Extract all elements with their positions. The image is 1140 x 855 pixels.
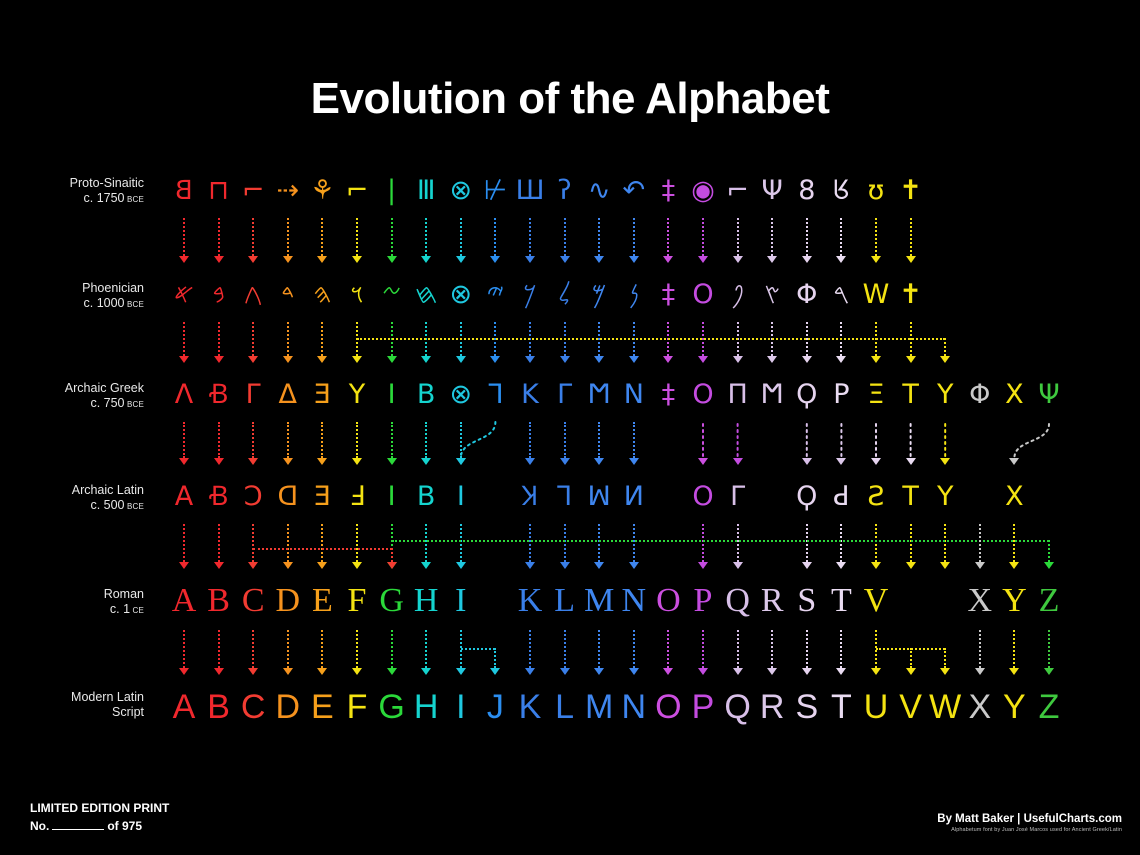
descent-line-col0: [183, 630, 185, 668]
descent-line-col5: [356, 218, 358, 256]
branch-J-drop: [494, 648, 496, 668]
descent-arrow-col21: [906, 562, 916, 569]
curve-upsilon-to-V-head: [940, 458, 950, 465]
descent-line-col4: [321, 218, 323, 256]
curve-psi-to-X-head: [1009, 458, 1019, 465]
descent-line-col16: [737, 630, 739, 668]
infographic-page: Evolution of the Alphabet Proto-Sinaitic…: [0, 0, 1140, 855]
descent-arrow-col12: [594, 356, 604, 363]
branch-Z-arrow: [1044, 562, 1054, 569]
descent-arrow-col7: [421, 562, 431, 569]
descent-line-col3: [287, 524, 289, 562]
descent-arrow-col11: [560, 356, 570, 363]
glyph-archaic-latin-X: X: [992, 474, 1036, 520]
descent-arrow-col11: [560, 562, 570, 569]
descent-arrow-col17: [767, 256, 777, 263]
descent-arrow-col6: [387, 356, 397, 363]
descent-arrow-col16: [733, 356, 743, 363]
descent-arrow-col24: [1009, 668, 1019, 675]
edition-number-prefix: No.: [30, 819, 49, 833]
descent-line-col14: [667, 218, 669, 256]
descent-arrow-col20: [871, 256, 881, 263]
descent-arrow-col4: [317, 256, 327, 263]
descent-arrow-col10: [525, 458, 535, 465]
descent-arrow-col11: [560, 668, 570, 675]
descent-arrow-col6: [387, 458, 397, 465]
descent-arrow-col5: [352, 256, 362, 263]
descent-arrow-col14: [663, 668, 673, 675]
descent-arrow-col23: [975, 668, 985, 675]
descent-arrow-col16: [733, 256, 743, 263]
descent-line-col4: [321, 322, 323, 356]
descent-line-col7: [425, 422, 427, 458]
curve-sigma-to-S-head: [871, 458, 881, 465]
glyph-row-archaic-greek: ΛꞖΓΔƎYIΒ⊗ᒣΚΓϺΝ‡ΟΠϺϘꓑΞΤΥΦΧΨ: [0, 372, 1140, 418]
descent-arrow-col4: [317, 562, 327, 569]
glyph-row-roman: ABCDEFGHIKLMNOPQRSTVXYZ: [0, 578, 1140, 624]
descent-arrow-col13: [629, 668, 639, 675]
descent-arrow-col4: [317, 458, 327, 465]
descent-arrow-col5: [352, 562, 362, 569]
descent-line-col12: [598, 630, 600, 668]
descent-line-col20: [875, 524, 877, 562]
descent-arrow-col20: [871, 562, 881, 569]
descent-line-col2: [252, 218, 254, 256]
descent-arrow-col20: [871, 356, 881, 363]
descent-line-col11: [564, 630, 566, 668]
descent-arrow-col22: [940, 562, 950, 569]
glyph-modern-latin-Z: Z: [1027, 684, 1071, 730]
descent-line-col11: [564, 218, 566, 256]
descent-line-col15: [702, 630, 704, 668]
glyph-row-phoenician: 𐤀𐤁𐤂𐤃𐤄𐤅𐤆𐤇⊗𐤉𐤊𐤋𐤌𐤍‡O𐤐𐤑Φ𐤓W✝: [0, 272, 1140, 318]
descent-arrow-col7: [421, 356, 431, 363]
descent-line-col1: [218, 322, 220, 356]
descent-line-col2: [252, 322, 254, 356]
descent-line-col1: [218, 524, 220, 562]
descent-arrow-col15: [698, 562, 708, 569]
descent-arrow-col9: [490, 256, 500, 263]
descent-line-col6: [391, 422, 393, 458]
branch-zeta-to-Z: [392, 540, 1049, 542]
curve-rho-to-R-head: [836, 458, 846, 465]
descent-arrow-col10: [525, 562, 535, 569]
descent-arrow-col7: [421, 458, 431, 465]
descent-arrow-col3: [283, 256, 293, 263]
curve-iota-to-I: [461, 422, 496, 458]
descent-arrow-col11: [560, 458, 570, 465]
descent-line-col16: [737, 524, 739, 562]
descent-arrow-col12: [594, 562, 604, 569]
descent-line-col4: [321, 524, 323, 562]
descent-arrow-col24: [1009, 562, 1019, 569]
descent-line-col19: [840, 218, 842, 256]
descent-arrow-col13: [629, 356, 639, 363]
descent-arrow-col15: [698, 356, 708, 363]
glyph-archaic-latin-N: И: [612, 474, 656, 520]
descent-arrow-col6: [387, 256, 397, 263]
descent-line-col7: [425, 218, 427, 256]
descent-line-col2: [252, 630, 254, 668]
branch-J-arrow: [490, 668, 500, 675]
descent-arrow-col1: [214, 562, 224, 569]
descent-arrow-col15: [698, 668, 708, 675]
descent-arrow-col21: [906, 356, 916, 363]
descent-line-col20: [875, 218, 877, 256]
descent-arrow-col2: [248, 668, 258, 675]
descent-arrow-col18: [802, 256, 812, 263]
descent-arrow-col8: [456, 562, 466, 569]
descent-line-col13: [633, 630, 635, 668]
descent-arrow-col21: [906, 256, 916, 263]
descent-line-col3: [287, 218, 289, 256]
descent-arrow-col14: [663, 356, 673, 363]
descent-arrow-col1: [214, 668, 224, 675]
descent-arrow-col11: [560, 256, 570, 263]
descent-arrow-col13: [629, 458, 639, 465]
descent-line-col12: [598, 422, 600, 458]
descent-arrow-col1: [214, 356, 224, 363]
descent-arrow-col18: [802, 562, 812, 569]
branch-C-to-G: [253, 548, 391, 550]
descent-arrow-col19: [836, 562, 846, 569]
descent-arrow-col8: [456, 668, 466, 675]
descent-arrow-col2: [248, 458, 258, 465]
glyph-archaic-latin-P: Γ: [716, 474, 760, 520]
descent-line-col21: [910, 218, 912, 256]
descent-line-col5: [356, 422, 358, 458]
descent-arrow-col19: [836, 668, 846, 675]
descent-line-col25: [1048, 630, 1050, 668]
descent-line-col1: [218, 630, 220, 668]
descent-arrow-col3: [283, 562, 293, 569]
descent-arrow-col2: [248, 256, 258, 263]
descent-arrow-col13: [629, 562, 639, 569]
glyph-archaic-greek-psi: Ψ: [1027, 372, 1071, 418]
descent-arrow-col10: [525, 356, 535, 363]
branch-waw-to-upsilon: [357, 338, 945, 340]
descent-line-col14: [667, 630, 669, 668]
descent-line-col0: [183, 218, 185, 256]
descent-arrow-col17: [767, 356, 777, 363]
branch-upsilon-drop: [944, 338, 946, 356]
descent-line-col13: [633, 524, 635, 562]
descent-line-col24: [1013, 630, 1015, 668]
descent-arrow-col7: [421, 668, 431, 675]
descent-arrow-col0: [179, 668, 189, 675]
descent-line-col1: [218, 218, 220, 256]
curve-psi-to-X: [1014, 424, 1049, 458]
branch-upsilon-arrow: [940, 356, 950, 363]
edition-number-blank: [52, 819, 104, 830]
descent-line-col13: [633, 218, 635, 256]
descent-arrow-col12: [594, 458, 604, 465]
descent-line-col3: [287, 630, 289, 668]
branch-G-drop: [391, 548, 393, 562]
descent-arrow-col3: [283, 458, 293, 465]
descent-arrow-col0: [179, 458, 189, 465]
descent-line-col18: [806, 630, 808, 668]
descent-arrow-col0: [179, 562, 189, 569]
descent-line-col6: [391, 218, 393, 256]
descent-arrow-col8: [456, 256, 466, 263]
descent-line-col18: [806, 524, 808, 562]
glyph-row-archaic-latin: AꞖƆᗡƎℲIΒIꞰꞀꟽИOΓϘꓒƧΤΥX: [0, 474, 1140, 520]
glyph-roman-Z: Z: [1027, 578, 1071, 624]
glyph-proto-sinaitic-mark: ✝: [889, 168, 933, 214]
curve-omicron-to-O-head: [698, 458, 708, 465]
descent-line-col12: [598, 218, 600, 256]
edition-number-suffix: of 975: [107, 819, 142, 833]
curve-iota-to-I-head: [456, 458, 466, 465]
descent-arrow-col10: [525, 668, 535, 675]
glyph-roman-V: V: [854, 578, 898, 624]
descent-arrow-col1: [214, 256, 224, 263]
descent-line-col6: [391, 630, 393, 668]
branch-G-arrow: [387, 562, 397, 569]
branch-Z-drop: [1048, 540, 1050, 562]
descent-line-col13: [633, 422, 635, 458]
descent-arrow-col18: [802, 356, 812, 363]
descent-line-col23: [979, 524, 981, 562]
branch-W-arrow: [940, 668, 950, 675]
descent-line-col7: [425, 630, 427, 668]
descent-arrow-col12: [594, 256, 604, 263]
descent-line-col4: [321, 422, 323, 458]
descent-arrow-col25: [1044, 668, 1054, 675]
descent-line-col0: [183, 524, 185, 562]
descent-line-col15: [702, 218, 704, 256]
descent-line-col10: [529, 422, 531, 458]
curve-tau-to-T-head: [906, 458, 916, 465]
glyph-archaic-latin-V: Υ: [923, 474, 967, 520]
branch-W-drop: [944, 648, 946, 668]
descent-line-col9: [494, 218, 496, 256]
descent-line-col19: [840, 524, 842, 562]
descent-arrow-col5: [352, 356, 362, 363]
descent-arrow-col4: [317, 668, 327, 675]
descent-line-col12: [598, 524, 600, 562]
descent-arrow-col20: [871, 668, 881, 675]
descent-line-col17: [771, 630, 773, 668]
descent-arrow-col2: [248, 356, 258, 363]
descent-line-col11: [564, 422, 566, 458]
descent-line-col0: [183, 422, 185, 458]
curve-qoppa-to-Q-head: [802, 458, 812, 465]
limited-edition-label: LIMITED EDITION PRINT: [30, 799, 169, 817]
descent-line-col2: [252, 422, 254, 458]
credit-footer: By Matt Baker | UsefulCharts.com Alphabe…: [937, 812, 1122, 835]
alphabet-evolution-chart: Proto-Sinaiticc. 1750 BCEPhoenicianc. 10…: [0, 0, 1140, 855]
descent-line-col5: [356, 630, 358, 668]
descent-arrow-col15: [698, 256, 708, 263]
descent-arrow-col5: [352, 668, 362, 675]
descent-line-col8: [460, 218, 462, 256]
descent-line-col17: [771, 218, 773, 256]
branch-V-drop: [910, 648, 912, 668]
descent-line-col1: [218, 422, 220, 458]
descent-arrow-col12: [594, 668, 604, 675]
branch-V-arrow: [906, 668, 916, 675]
descent-line-col5: [356, 524, 358, 562]
glyph-row-modern-latin: ABCDEFGHIJKLMNOPQRSTUVWXYZ: [0, 684, 1140, 730]
descent-line-col16: [737, 218, 739, 256]
descent-line-col24b: [1013, 524, 1015, 562]
descent-line-col4: [321, 630, 323, 668]
descent-arrow-col23: [975, 562, 985, 569]
descent-line-col8: [460, 524, 462, 562]
descent-line-col8: [460, 422, 462, 458]
descent-line-col2: [252, 524, 254, 562]
descent-arrow-col17: [767, 668, 777, 675]
descent-arrow-col10: [525, 256, 535, 263]
descent-line-col19: [840, 630, 842, 668]
descent-arrow-col16: [733, 562, 743, 569]
descent-arrow-col3: [283, 356, 293, 363]
descent-arrow-col1: [214, 458, 224, 465]
descent-line-col22: [944, 524, 946, 562]
descent-line-col10: [529, 218, 531, 256]
descent-arrow-col8: [456, 356, 466, 363]
descent-line-col0: [183, 322, 185, 356]
descent-line-col10: [529, 524, 531, 562]
limited-edition-footer: LIMITED EDITION PRINT No.of 975: [30, 799, 169, 835]
descent-line-col21: [910, 524, 912, 562]
descent-arrow-col7: [421, 256, 431, 263]
glyph-phoenician-taw: ✝: [889, 272, 933, 318]
descent-arrow-col9: [490, 356, 500, 363]
descent-line-col11: [564, 524, 566, 562]
descent-line-col23: [979, 630, 981, 668]
descent-arrow-col0: [179, 256, 189, 263]
glyph-archaic-latin-I: I: [439, 474, 483, 520]
descent-arrow-col16: [733, 668, 743, 675]
descent-arrow-col18: [802, 668, 812, 675]
descent-line-col3: [287, 322, 289, 356]
descent-arrow-col19: [836, 356, 846, 363]
descent-arrow-col6: [387, 668, 397, 675]
descent-line-col7: [425, 524, 427, 562]
descent-line-col18: [806, 218, 808, 256]
descent-arrow-col19: [836, 256, 846, 263]
author-credit[interactable]: By Matt Baker | UsefulCharts.com: [937, 812, 1122, 826]
descent-line-col10: [529, 630, 531, 668]
descent-line-col3: [287, 422, 289, 458]
descent-arrow-col5: [352, 458, 362, 465]
branch-I-to-J: [461, 648, 496, 650]
descent-line-col15: [702, 524, 704, 562]
glyph-row-proto-sinaitic: 𐤡⊓⌐⇢⚘⌐|Ⅲ⊗⊬Шʔ∿↶‡◉⌐Ψ8ᖉʊ✝: [0, 168, 1140, 214]
descent-arrow-col2: [248, 562, 258, 569]
descent-arrow-col3: [283, 668, 293, 675]
glyph-roman-I: I: [439, 578, 483, 624]
font-attribution-note: Alphabetum font by Juan José Marcos used…: [937, 826, 1122, 835]
curve-pi-to-P-head: [733, 458, 743, 465]
descent-arrow-col4: [317, 356, 327, 363]
descent-arrow-col13: [629, 256, 639, 263]
descent-arrow-col14: [663, 256, 673, 263]
descent-arrow-col0: [179, 356, 189, 363]
edition-number-line: No.of 975: [30, 817, 169, 835]
